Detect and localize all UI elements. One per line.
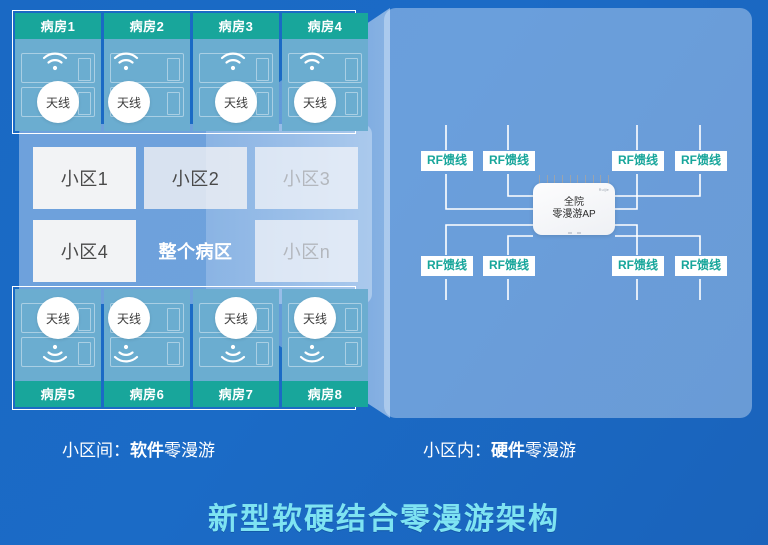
cell-2[interactable]: 小区2 <box>144 147 247 209</box>
ap-label: 全院 零漫游AP <box>552 197 595 222</box>
cell-4[interactable]: 小区4 <box>33 220 136 282</box>
cell-1[interactable]: 小区1 <box>33 147 136 209</box>
caption-left-suffix: 零漫游 <box>164 441 215 460</box>
ap-label-line1: 全院 <box>552 197 595 210</box>
room-3-title: 病房3 <box>193 13 279 39</box>
rf-label-bottom-2[interactable]: RF馈线 <box>483 256 535 276</box>
caption-right-strong: 硬件 <box>491 441 525 460</box>
slide-canvas: 小区1 小区2 小区3 小区4 整个病区 小区n <box>0 0 768 545</box>
rf-label-top-3[interactable]: RF馈线 <box>612 151 664 171</box>
ap-label-line2: 零漫游AP <box>552 209 595 222</box>
caption-left-prefix: 小区间： <box>62 441 130 460</box>
room-3[interactable]: 病房3 天线 <box>193 13 279 131</box>
ap-feet <box>534 232 614 234</box>
room-6-title: 病房6 <box>104 381 190 407</box>
antenna-bubble[interactable]: 天线 <box>108 81 150 123</box>
antenna-bubble[interactable]: 天线 <box>37 297 79 339</box>
room-5[interactable]: 病房5 天线 <box>15 289 101 407</box>
bed-outline <box>110 337 184 367</box>
page-title: 新型软硬结合零漫游架构 <box>0 494 768 538</box>
room-8-title: 病房8 <box>282 381 368 407</box>
room-7[interactable]: 病房7 天线 <box>193 289 279 407</box>
bed-outline <box>21 337 95 367</box>
bed-outline <box>199 337 273 367</box>
room-6[interactable]: 病房6 天线 <box>104 289 190 407</box>
antenna-bubble[interactable]: 天线 <box>37 81 79 123</box>
zero-roaming-ap[interactable]: Ruijie 全院 零漫游AP <box>533 183 615 235</box>
antenna-bubble[interactable]: 天线 <box>294 81 336 123</box>
antenna-bubble[interactable]: 天线 <box>215 81 257 123</box>
room-7-title: 病房7 <box>193 381 279 407</box>
bed-outline <box>110 53 184 83</box>
room-2-title: 病房2 <box>104 13 190 39</box>
antenna-bubble[interactable]: 天线 <box>294 297 336 339</box>
caption-left-strong: 软件 <box>130 441 164 460</box>
room-5-title: 病房5 <box>15 381 101 407</box>
rf-label-top-1[interactable]: RF馈线 <box>421 151 473 171</box>
rf-label-top-4[interactable]: RF馈线 <box>675 151 727 171</box>
bed-outline <box>21 53 95 83</box>
antenna-bubble[interactable]: 天线 <box>215 297 257 339</box>
rf-label-top-2[interactable]: RF馈线 <box>483 151 535 171</box>
caption-right-suffix: 零漫游 <box>525 441 576 460</box>
caption-right: 小区内：硬件零漫游 <box>423 436 576 461</box>
room-2[interactable]: 病房2 天线 <box>104 13 190 131</box>
ward-row-top: 病房1 天线 病房2 <box>12 10 356 134</box>
rf-label-bottom-4[interactable]: RF馈线 <box>675 256 727 276</box>
bed-outline <box>288 337 362 367</box>
cell-n[interactable]: 小区n <box>255 220 358 282</box>
cell-grid: 小区1 小区2 小区3 小区4 整个病区 小区n <box>33 147 358 283</box>
room-1-title: 病房1 <box>15 13 101 39</box>
caption-right-prefix: 小区内： <box>423 441 491 460</box>
left-panel: 小区1 小区2 小区3 小区4 整个病区 小区n <box>19 124 372 304</box>
whole-ward-label: 整个病区 <box>144 220 247 282</box>
room-8[interactable]: 病房8 天线 <box>282 289 368 407</box>
room-1[interactable]: 病房1 天线 <box>15 13 101 131</box>
bed-outline <box>199 53 273 83</box>
room-4[interactable]: 病房4 天线 <box>282 13 368 131</box>
antenna-bubble[interactable]: 天线 <box>108 297 150 339</box>
caption-left: 小区间：软件零漫游 <box>62 436 215 461</box>
ap-brand-mark: Ruijie <box>599 188 609 192</box>
bed-outline <box>288 53 362 83</box>
ward-row-bottom: 病房5 天线 病房6 天线 <box>12 286 356 410</box>
rf-label-bottom-3[interactable]: RF馈线 <box>612 256 664 276</box>
rf-label-bottom-1[interactable]: RF馈线 <box>421 256 473 276</box>
room-4-title: 病房4 <box>282 13 368 39</box>
cell-3[interactable]: 小区3 <box>255 147 358 209</box>
